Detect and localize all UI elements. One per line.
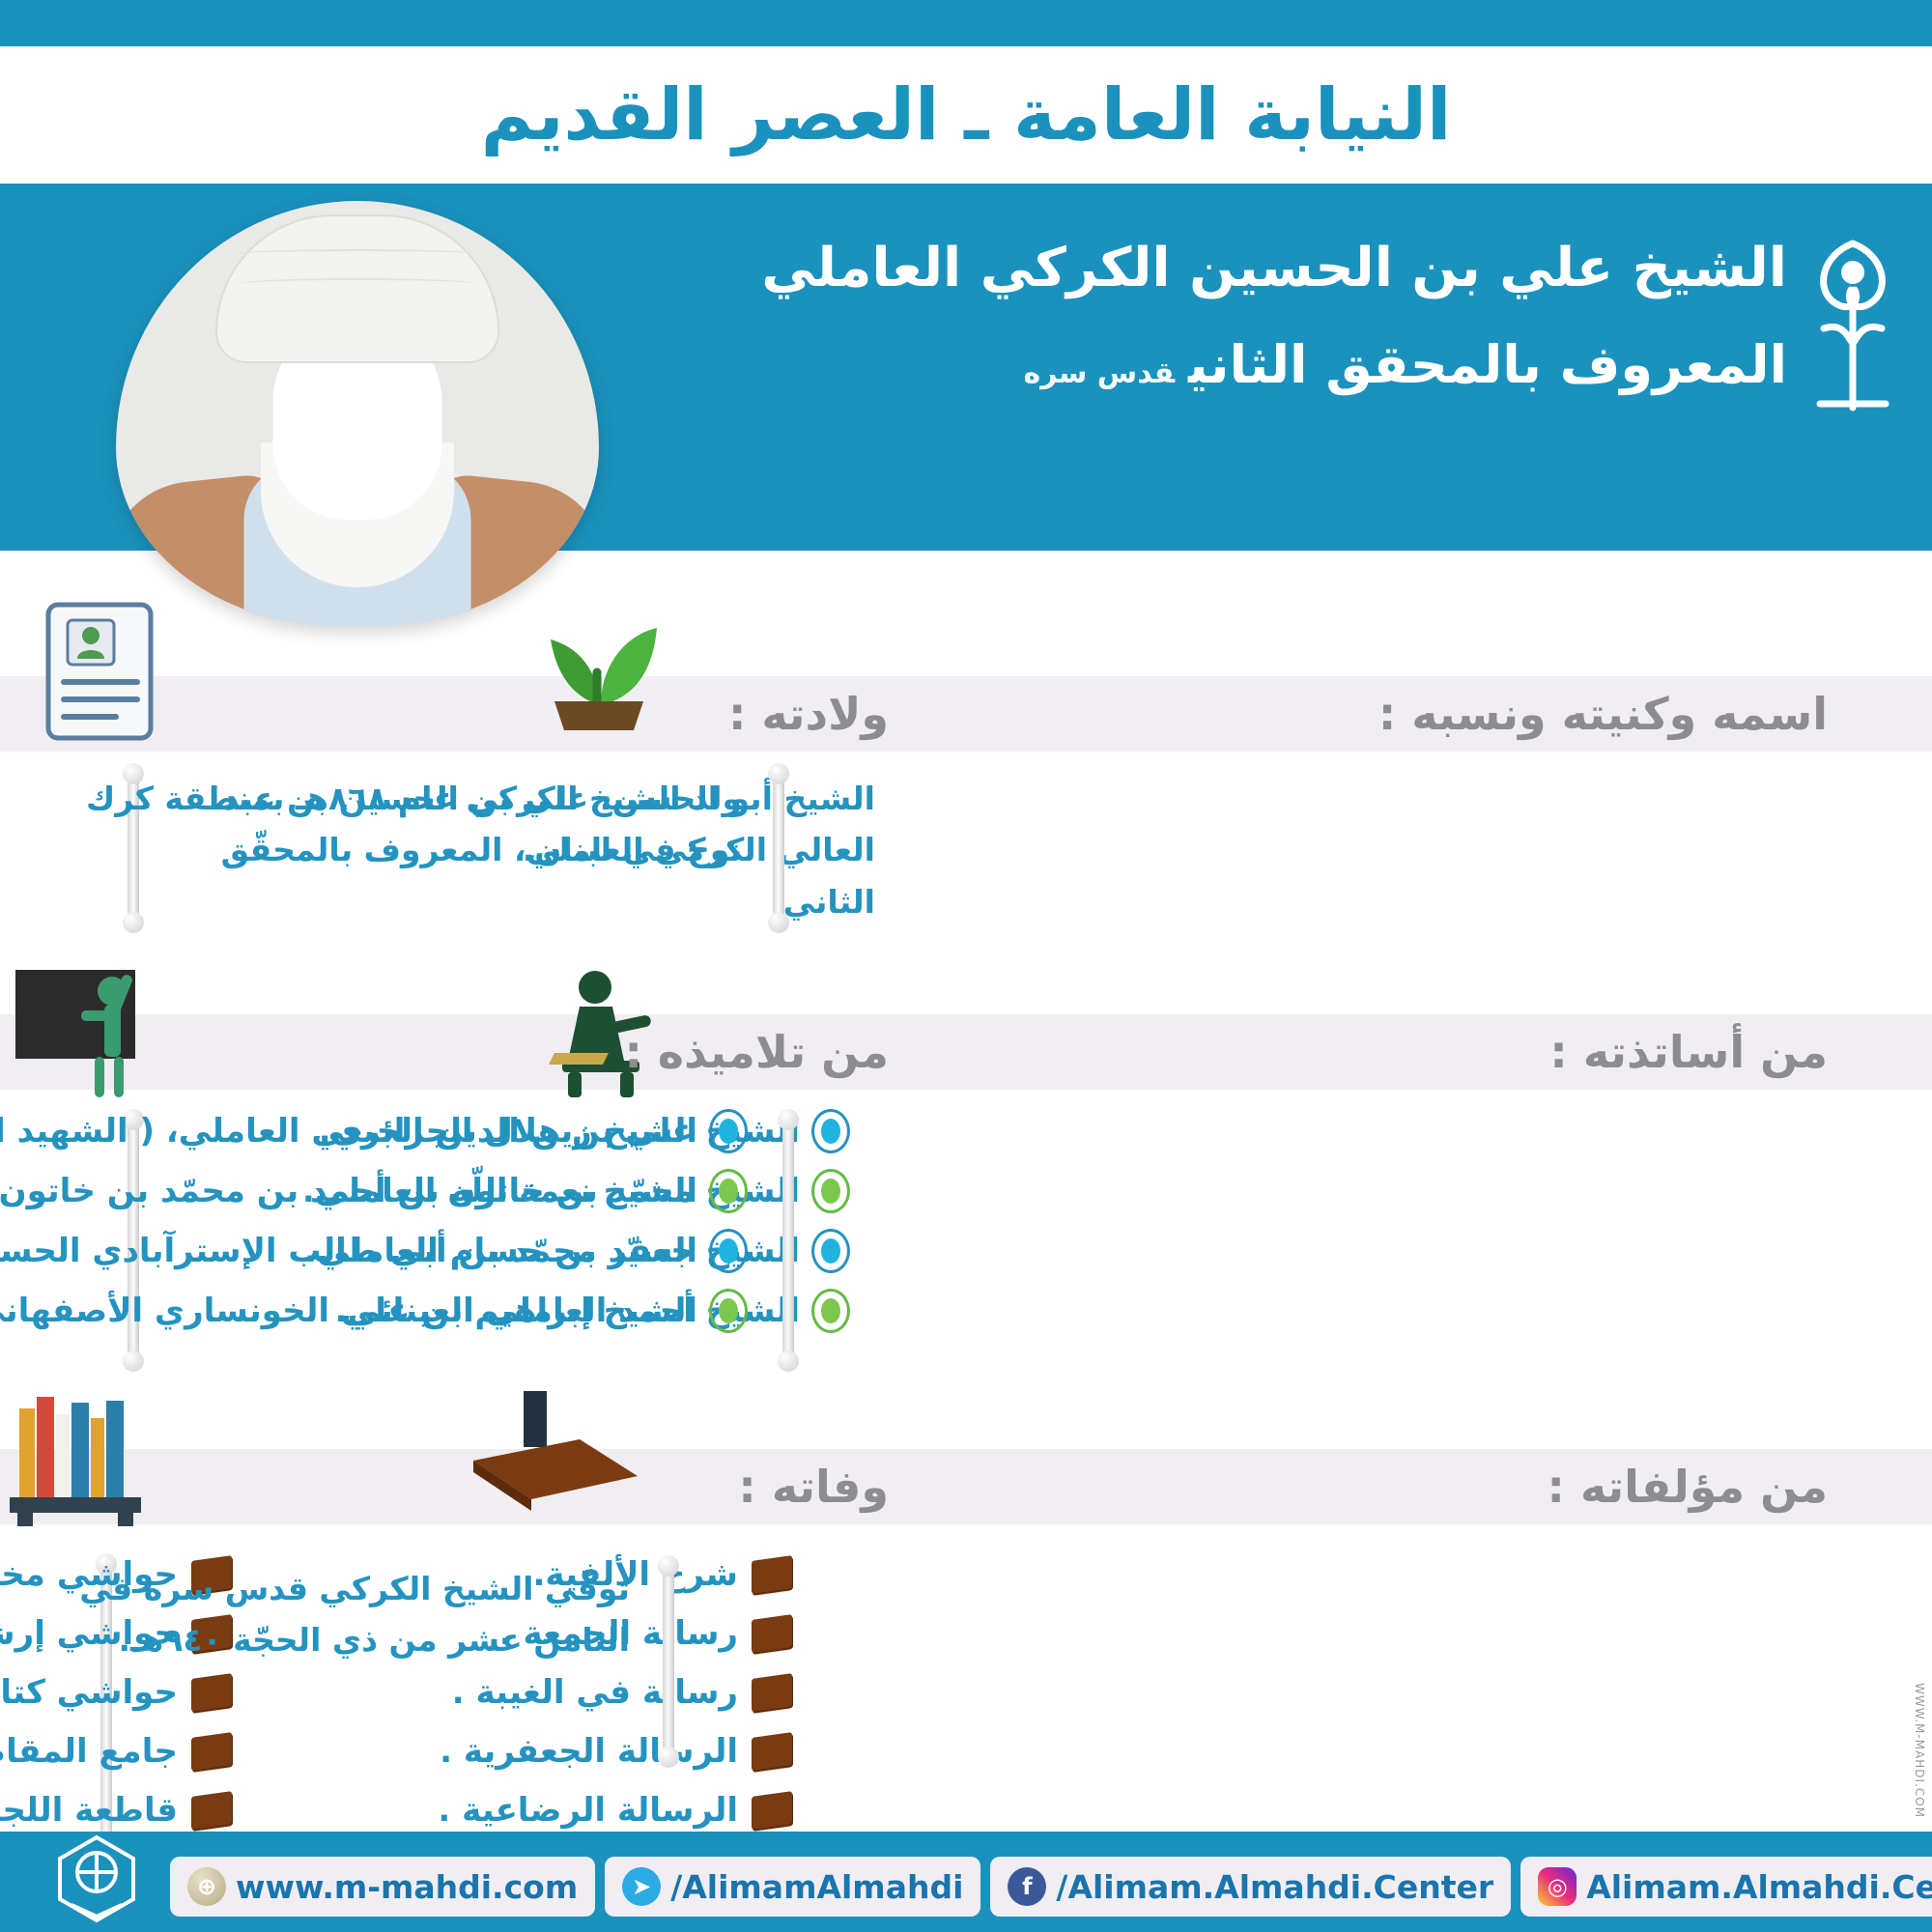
facebook-icon: f: [1008, 1867, 1046, 1906]
section-heading-works: من مؤلفاته :: [1548, 1449, 1828, 1524]
list-item-label: الشيخ نعمة اللّه بن أحمد بن محمّد بن خات…: [0, 1172, 697, 1210]
book-icon: [191, 1676, 232, 1709]
divider-pin-6: [663, 1567, 674, 1756]
list-item-label: الشيخ إبراهيم بن علي الخونساري الأصفهاني…: [0, 1292, 697, 1330]
list-item: قاطعة اللجاج في تحقيق حل الخراج.: [0, 1791, 232, 1830]
bullet-dot-icon: [709, 1169, 748, 1213]
list-item: الشيخ زين الدين الجبعي العاملي، ( الشهيد…: [0, 1109, 748, 1153]
list-item-label: جامع المقاصد في شرح القواعد.: [0, 1732, 178, 1771]
footer-link-label: /Alimam.Almahdi.Center: [1056, 1868, 1493, 1906]
list-item: حواشي كتاب شرائع الإسلام.: [0, 1673, 232, 1712]
list-item-label: الشيخ زين الدين الجبعي العاملي، ( الشهيد…: [0, 1112, 697, 1151]
section-heading-teachers: من أساتذته :: [1549, 1014, 1828, 1090]
list-item-label: حواشي كتاب شرائع الإسلام.: [0, 1673, 178, 1712]
list-item: السيّد محمّد بن أبي طالب الإسترآبادي الح…: [0, 1229, 748, 1273]
bullet-dot-icon: [811, 1169, 850, 1213]
hero-name-line2: المعروف بالمحقق الثانيقدس سره: [647, 330, 1787, 401]
telegram-icon: ➤: [622, 1867, 661, 1906]
book-icon: [191, 1794, 232, 1827]
book-icon: [752, 1735, 792, 1768]
footer-link-facebook[interactable]: f/Alimam.Almahdi.Center: [990, 1857, 1511, 1917]
instagram-icon: ◎: [1538, 1867, 1577, 1906]
teacher-blackboard-icon: [12, 966, 166, 1101]
footer-link-label: Alimam.Almahdi.Center: [1586, 1868, 1932, 1906]
infographic-page: النيابة العامة ـ العصر القديم الشيخ علي …: [0, 0, 1932, 1932]
footer-link-label: /AlimamAlmahdi: [670, 1868, 963, 1906]
bullet-dot-icon: [709, 1109, 748, 1153]
list-item-label: الرسالة الجعفرية .: [440, 1732, 738, 1771]
section-heading-birth: ولادته :: [728, 676, 889, 752]
footer-link-telegram[interactable]: ➤/AlimamAlmahdi: [605, 1857, 980, 1917]
list-item: الشيخ إبراهيم بن علي الخونساري الأصفهاني…: [0, 1289, 748, 1333]
book-icon: [752, 1794, 792, 1827]
book-icon: [191, 1735, 232, 1768]
hero-name-line2-text: المعروف بالمحقق الثاني: [1188, 334, 1787, 395]
section-text-death: توفّي الشيخ الكركي قدس سره في الثامن عشر…: [12, 1563, 630, 1666]
bookshelf-icon: [10, 1381, 174, 1526]
book-icon: [752, 1617, 792, 1650]
list-item-label: قاطعة اللجاج في تحقيق حل الخراج.: [0, 1791, 178, 1830]
sprout-icon: [512, 580, 686, 734]
bullet-dot-icon: [709, 1289, 748, 1333]
top-accent-stripe: [0, 0, 1932, 46]
section-heading-students: من تلاميذه :: [625, 1014, 889, 1090]
list-item: جامع المقاصد في شرح القواعد.: [0, 1732, 232, 1771]
page-title: النيابة العامة ـ العصر القديم: [481, 73, 1452, 156]
bullet-dot-icon: [811, 1229, 850, 1273]
hero-name-block: الشيخ علي بن الحسين الكركي العاملي المعر…: [647, 232, 1787, 400]
section-heading-death: وفاته :: [738, 1449, 889, 1524]
title-bar: النيابة العامة ـ العصر القديم: [0, 46, 1932, 184]
floral-ornament-icon: [1795, 214, 1911, 437]
honorific-label: قدس سره: [1023, 356, 1175, 390]
almahdi-center-logo: [29, 1832, 164, 1924]
globe-icon: ⊕: [187, 1867, 226, 1906]
list-item: الشيخ نعمة اللّه بن أحمد بن محمّد بن خات…: [0, 1169, 748, 1213]
grave-icon: [435, 1391, 647, 1536]
students-list: الشيخ زين الدين الجبعي العاملي، ( الشهيد…: [0, 1109, 748, 1349]
list-item-label: الرسالة الرضاعية .: [438, 1791, 738, 1830]
bullet-dot-icon: [811, 1109, 850, 1153]
footer-link-instagram[interactable]: ◎Alimam.Almahdi.Center: [1520, 1857, 1932, 1917]
book-icon: [752, 1558, 792, 1591]
bullet-dot-icon: [811, 1289, 850, 1333]
list-item-label: رسالة في الغيبة .: [452, 1673, 738, 1712]
book-icon: [752, 1676, 792, 1709]
divider-pin-4: [782, 1121, 794, 1360]
footer-link-globe[interactable]: ⊕www.m-mahdi.com: [170, 1857, 595, 1917]
footer-link-label: www.m-mahdi.com: [236, 1868, 578, 1906]
divider-pin-2: [773, 775, 784, 922]
section-heading-name: اسمه وكنيته ونسبه :: [1378, 676, 1828, 752]
bullet-dot-icon: [709, 1229, 748, 1273]
list-item-label: السيّد محمّد بن أبي طالب الإسترآبادي الح…: [0, 1232, 697, 1270]
id-card-icon: [41, 599, 162, 744]
section-text-birth: ولد الشيخ الكركي عام ٨٦٨هـ بمنطقة كرك نو…: [37, 773, 742, 876]
hero-name-line1: الشيخ علي بن الحسين الكركي العاملي: [647, 232, 1787, 305]
side-code-label: WWW.M-MAHDI.COM: [1913, 1683, 1926, 1818]
footer-links: ⊕www.m-mahdi.com➤/AlimamAlmahdif/Alimam.…: [170, 1857, 1932, 1917]
turban-icon: [215, 214, 499, 363]
